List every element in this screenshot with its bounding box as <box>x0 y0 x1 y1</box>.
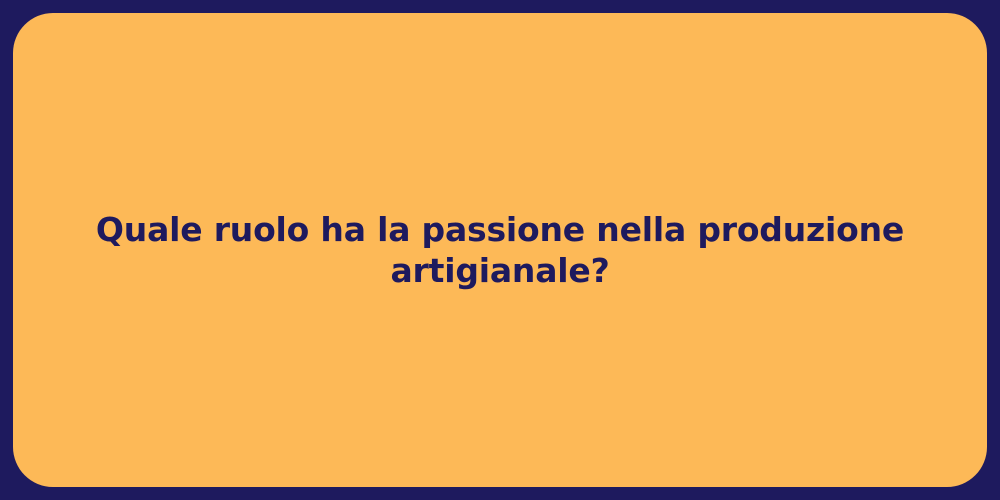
card-outer-frame: Quale ruolo ha la passione nella produzi… <box>0 0 1000 500</box>
question-text: Quale ruolo ha la passione nella produzi… <box>73 209 927 292</box>
question-card-panel: Quale ruolo ha la passione nella produzi… <box>13 13 987 487</box>
